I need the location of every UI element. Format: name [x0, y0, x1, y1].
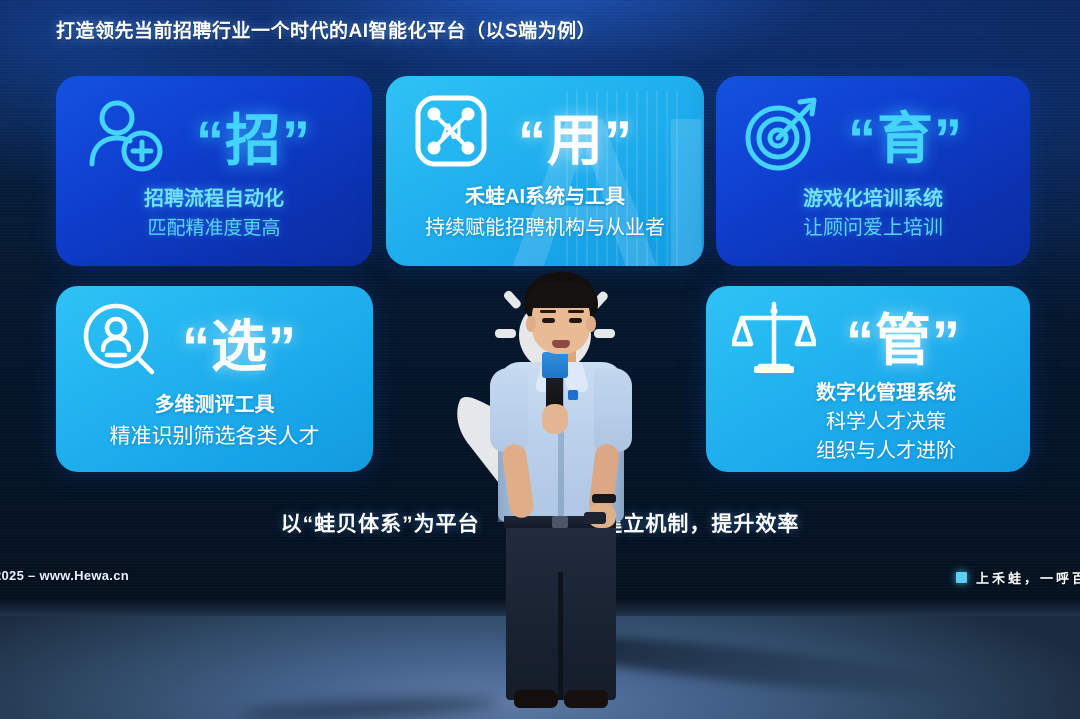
card-line1-zhao: 招聘流程自动化: [56, 184, 372, 214]
card-line1-yu: 游戏化培训系统: [716, 184, 1030, 214]
card-line1-yong: 禾蛙AI系统与工具: [386, 182, 704, 213]
presentation-clicker: [584, 512, 606, 524]
speaker-shoe-right: [564, 690, 608, 708]
card-glyph-guan: “管”: [846, 296, 961, 377]
user-add-icon: [84, 96, 166, 178]
accent-square-icon: [956, 572, 967, 583]
svg-text:AI: AI: [440, 119, 462, 144]
caption-left-text: 以“蛙贝体系”为平台: [281, 508, 480, 538]
card-glyph-zhao: “招”: [196, 96, 311, 177]
card-line2-zhao: 匹配精准度更高: [56, 214, 372, 243]
person-search-icon: [80, 300, 162, 382]
speaker-person: [480, 272, 640, 706]
footer-right-text: 上禾蛙，一呼百: [976, 568, 1080, 587]
card-line1-xuan: 多维测评工具: [56, 390, 373, 421]
speaker-mouth: [552, 340, 570, 348]
card-glyph-xuan: “选”: [182, 302, 297, 383]
speaker-belt-buckle: [552, 516, 568, 528]
speaker-wristwatch: [592, 494, 616, 503]
card-line2-guan: 科学人才决策: [742, 408, 1030, 437]
card-line2-yong: 持续赋能招聘机构与从业者: [386, 213, 704, 243]
speaker-hand-left: [542, 404, 568, 434]
presentation-stage: 打造领先当前招聘行业一个时代的AI智能化平台（以S端为例）: [0, 0, 1080, 719]
speaker-eyebrow-left: [540, 310, 556, 313]
card-xuan[interactable]: “选” 多维测评工具 精准识别筛选各类人才: [56, 286, 373, 472]
card-line2-xuan: 精准识别筛选各类人才: [56, 421, 373, 452]
speaker-sleeve-right: [594, 368, 632, 452]
card-glyph-yu: “育”: [848, 94, 963, 175]
card-yong[interactable]: AI AI “用” 禾蛙AI系统与工具 持续赋能招聘机构与从业者: [386, 76, 704, 266]
footer-left-text: 2025 – www.Hewa.cn: [0, 568, 129, 583]
target-dart-icon: [742, 94, 822, 174]
card-line2-yu: 让顾问爱上培训: [716, 214, 1030, 243]
microphone-flag: [542, 352, 568, 378]
speaker-shoe-left: [514, 690, 558, 708]
speaker-eye-left: [542, 318, 555, 323]
card-yu[interactable]: “育” 游戏化培训系统 让顾问爱上培训: [716, 76, 1030, 266]
page-title: 打造领先当前招聘行业一个时代的AI智能化平台（以S端为例）: [56, 16, 596, 43]
ai-network-icon: AI: [412, 92, 490, 170]
footer-right: 上禾蛙，一呼百: [956, 568, 1080, 587]
speaker-ear-right: [586, 316, 596, 332]
speaker-sleeve-left: [490, 368, 528, 452]
card-zhao[interactable]: “招” 招聘流程自动化 匹配精准度更高: [56, 76, 372, 266]
card-glyph-yong: “用”: [518, 96, 633, 177]
card-guan[interactable]: “管” 数字化管理系统 科学人才决策 组织与人才进阶: [706, 286, 1030, 472]
card-line1-guan: 数字化管理系统: [742, 378, 1030, 408]
speaker-ear-left: [526, 316, 536, 332]
speaker-leg-gap: [558, 572, 563, 700]
speaker-lapel-badge: [568, 390, 578, 400]
balance-scale-icon: [732, 296, 816, 380]
speaker-hair-front: [526, 282, 596, 308]
speaker-eyebrow-right: [568, 310, 584, 313]
speaker-eye-right: [569, 318, 582, 323]
card-line3-guan: 组织与人才进阶: [742, 437, 1030, 466]
